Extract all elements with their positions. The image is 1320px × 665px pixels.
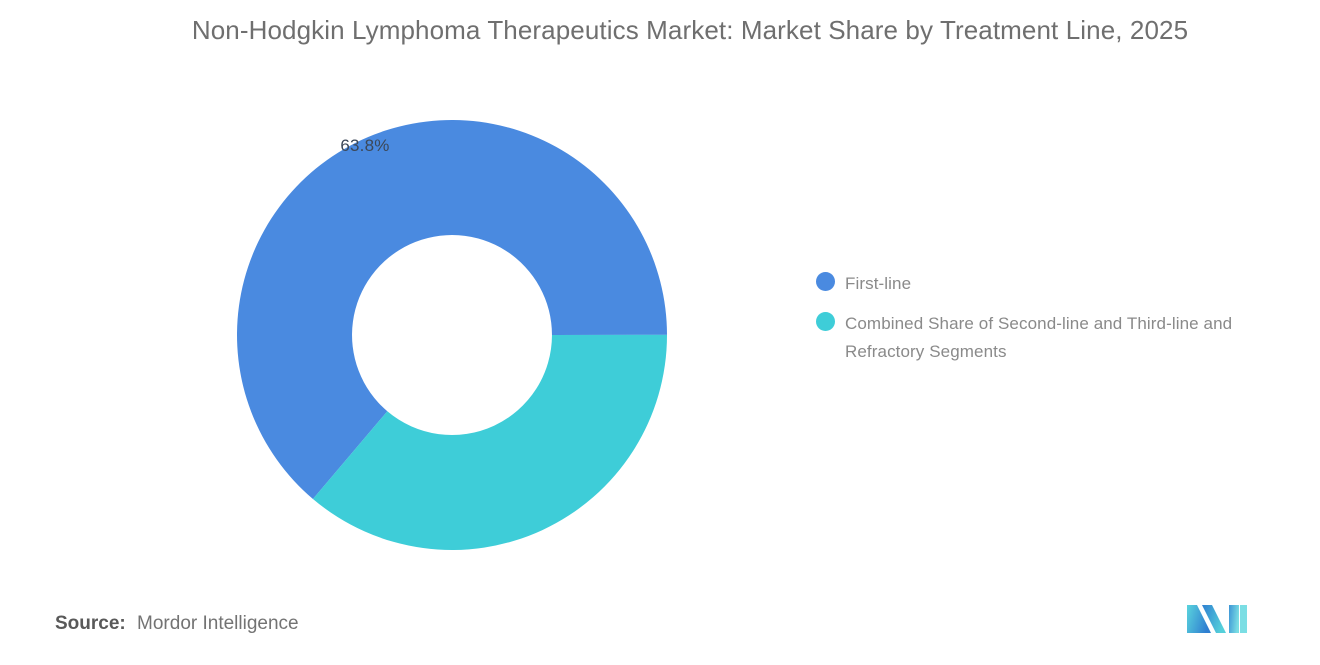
mordor-intelligence-logo [1186,597,1248,637]
source-value: Mordor Intelligence [137,613,299,634]
legend-item-label: Combined Share of Second-line and Third-… [845,310,1235,366]
donut-slice-group [237,120,667,550]
legend-item-combined-share[interactable]: Combined Share of Second-line and Third-… [816,310,1246,366]
legend-item-label: First-line [845,270,911,298]
source-attribution: Source: Mordor Intelligence [55,613,299,635]
donut-chart: 63.8% [237,117,667,553]
donut-slice[interactable] [313,335,667,550]
chart-title-line-1: Non-Hodgkin Lymphoma Therapeutics Market… [192,15,1059,45]
chart-title-line-2: Line, 2025 [1066,15,1188,45]
page-title: Non-Hodgkin Lymphoma Therapeutics Market… [170,10,1210,50]
source-label: Source: [55,613,126,634]
legend-item-first-line[interactable]: First-line [816,270,1246,298]
legend-dot-icon [816,272,835,291]
donut-chart-svg [237,117,667,553]
legend-dot-icon [816,312,835,331]
logo-mark-icon [1186,597,1248,637]
chart-legend: First-line Combined Share of Second-line… [816,270,1246,378]
chart-canvas: Non-Hodgkin Lymphoma Therapeutics Market… [0,0,1320,665]
